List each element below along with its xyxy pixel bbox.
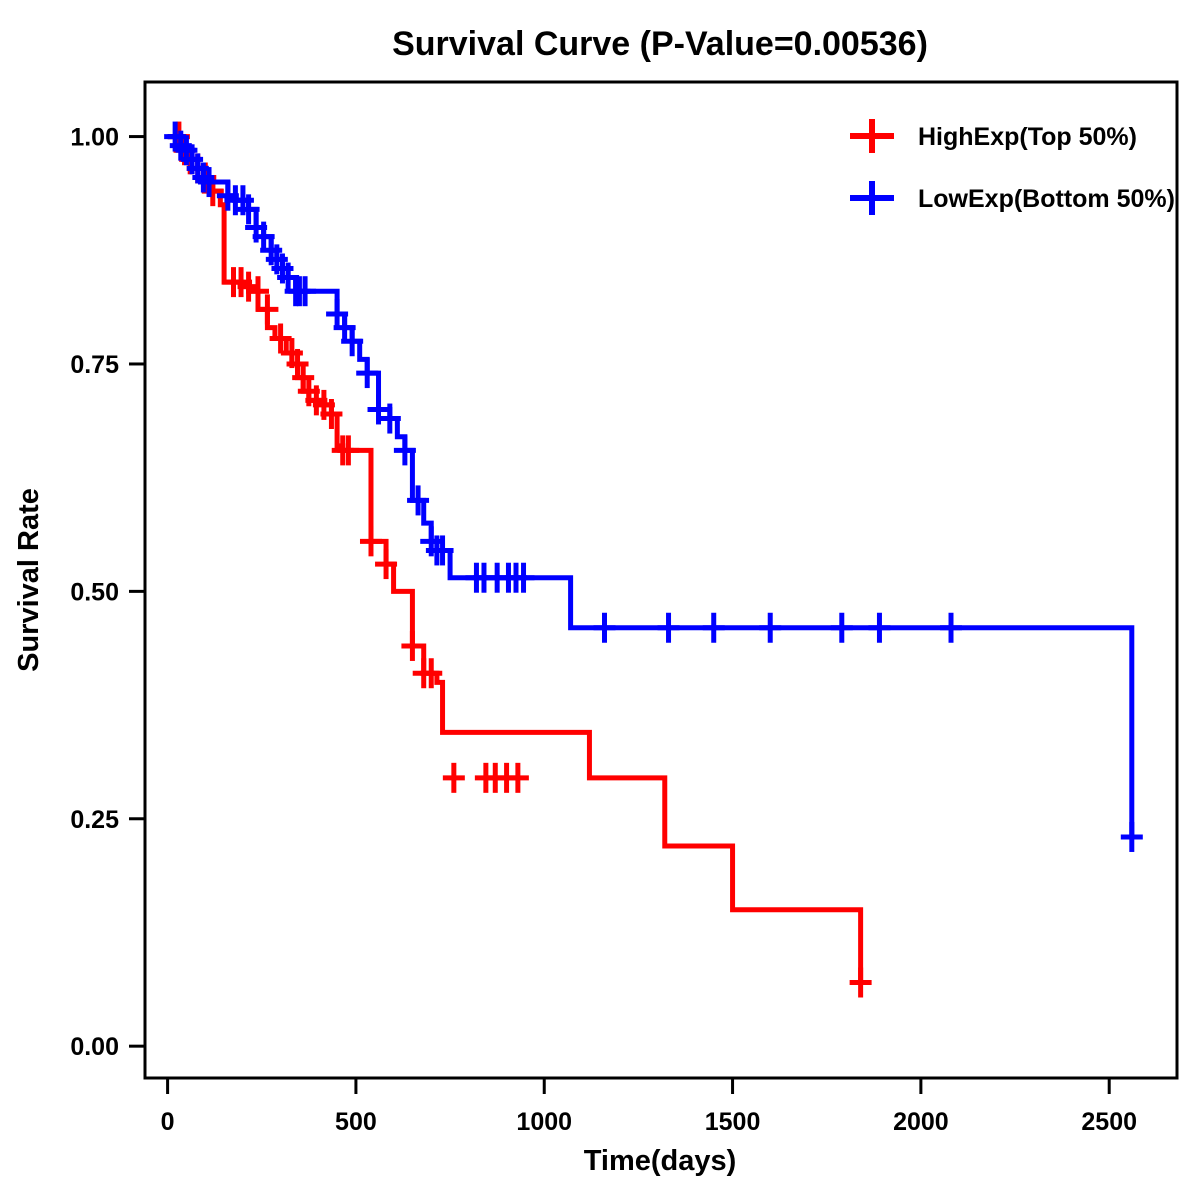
x-tick-label: 1500 <box>705 1108 761 1136</box>
y-tick-label: 1.00 <box>70 124 119 152</box>
x-tick-label: 2500 <box>1081 1108 1137 1136</box>
x-tick-label: 2000 <box>893 1108 949 1136</box>
legend-item-label: LowExp(Bottom 50%) <box>918 185 1175 213</box>
survival-curve-figure: Survival Curve (P-Value=0.00536) 0500100… <box>0 0 1200 1200</box>
y-axis-title: Survival Rate <box>13 488 45 672</box>
figure-background <box>0 0 1200 1200</box>
x-axis-title: Time(days) <box>584 1145 737 1177</box>
legend-item-label: HighExp(Top 50%) <box>918 123 1137 151</box>
x-tick-label: 0 <box>161 1108 175 1136</box>
y-tick-label: 0.00 <box>70 1033 119 1061</box>
x-tick-label: 500 <box>335 1108 377 1136</box>
y-tick-label: 0.50 <box>70 578 119 606</box>
y-tick-label: 0.75 <box>70 351 119 379</box>
plot-canvas: Survival Curve (P-Value=0.00536) 0500100… <box>0 0 1200 1200</box>
x-tick-label: 1000 <box>516 1108 572 1136</box>
chart-title: Survival Curve (P-Value=0.00536) <box>392 25 928 63</box>
y-tick-label: 0.25 <box>70 806 119 834</box>
